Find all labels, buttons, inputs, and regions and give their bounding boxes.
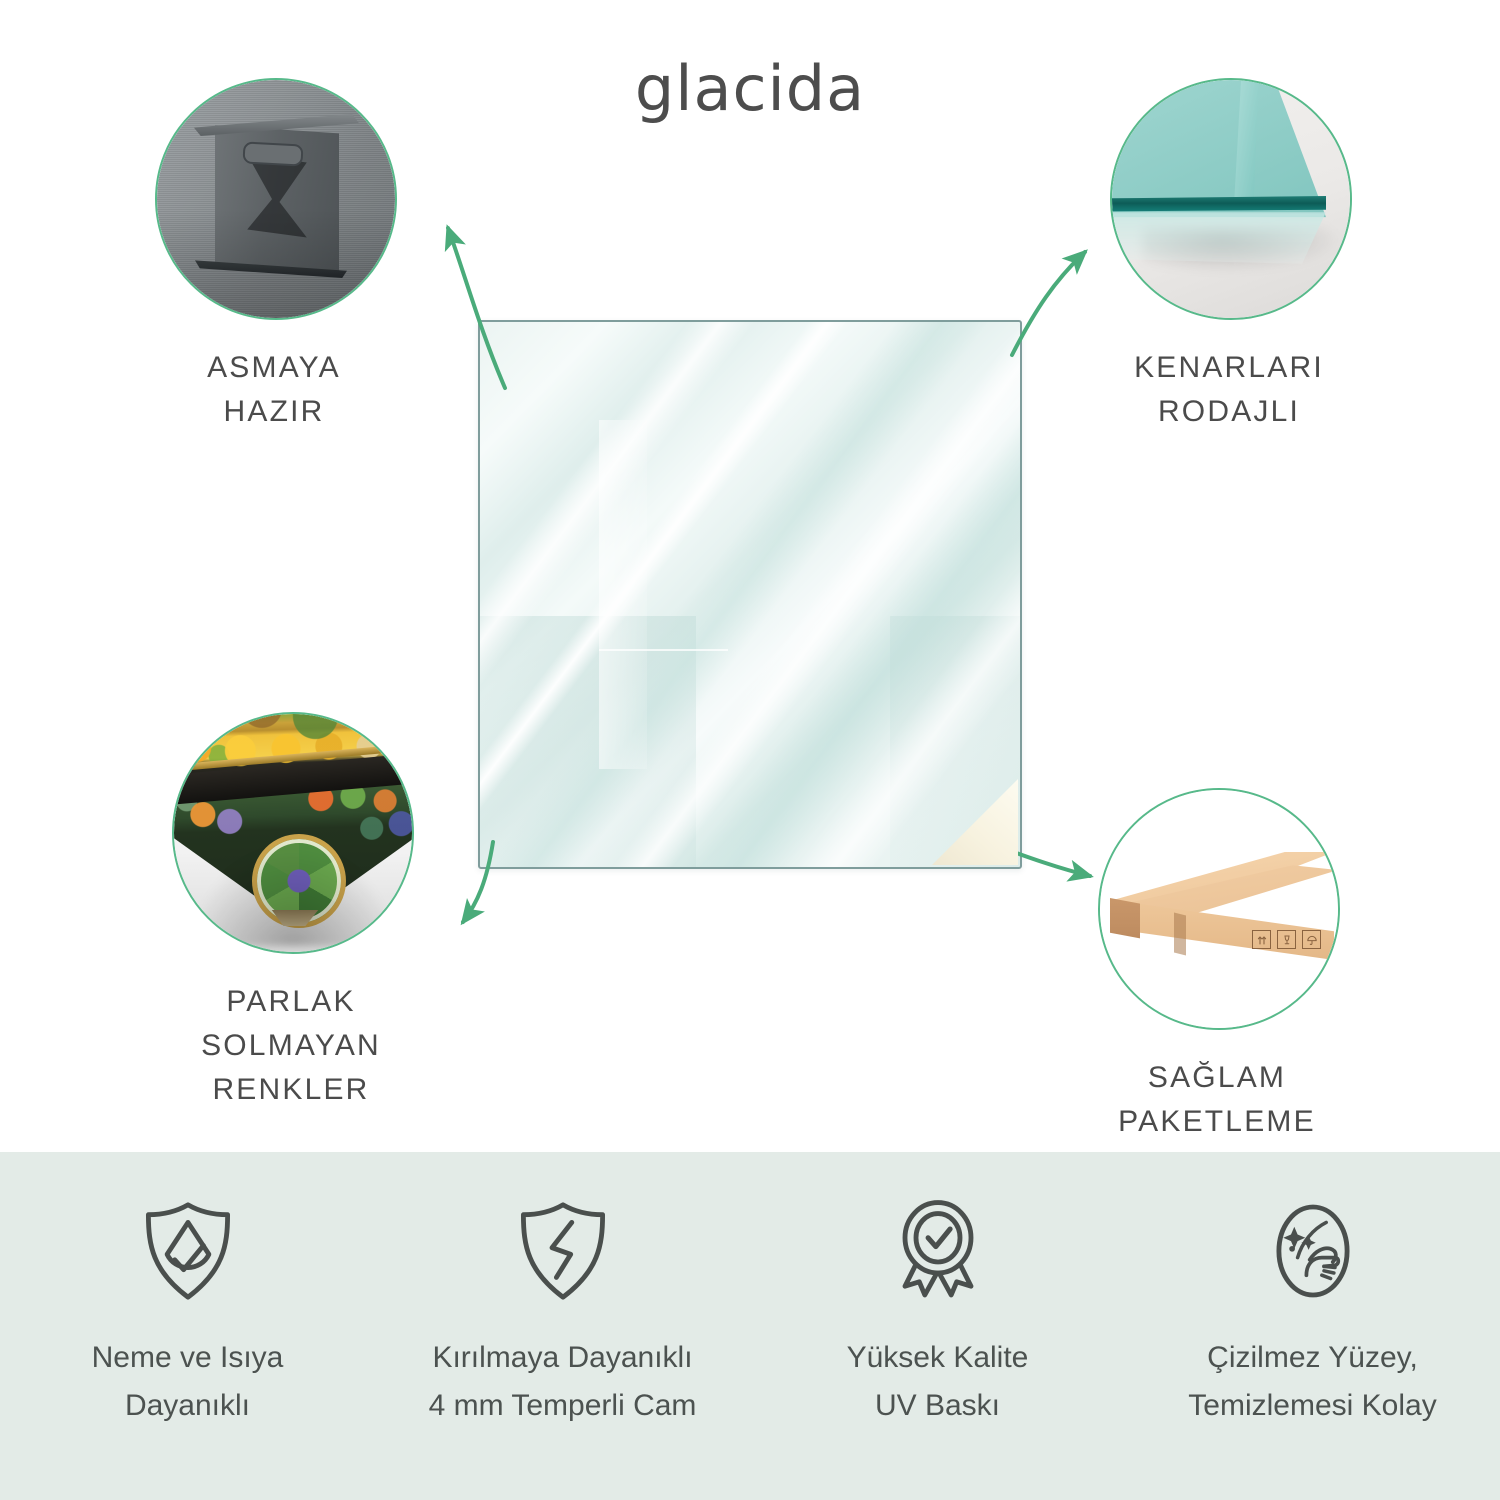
- feature-image-circle-edge: [1110, 78, 1352, 320]
- benefit-high-quality-uv: Yüksek Kalite UV Baskı: [750, 1152, 1125, 1500]
- award-ribbon-check-icon: [883, 1196, 993, 1306]
- benefit-label-scratch-free: Çizilmez Yüzey, Temizlemesi Kolay: [1188, 1334, 1436, 1430]
- feature-label-kenarlari-rodajli: KENARLARI RODAJLI: [1110, 346, 1348, 434]
- art-drop-shadow: [188, 841, 397, 946]
- benefit-label-moisture-heat: Neme ve Isıya Dayanıklı: [92, 1334, 284, 1430]
- sparkle-wipe-hand-icon: [1258, 1196, 1368, 1306]
- glass-window-reflection: [599, 420, 648, 769]
- infographic-page: glacida ASMAYA HAZIR: [0, 0, 1500, 1500]
- feature-label-parlak-solmayan-renkler: PARLAK SOLMAYAN RENKLER: [122, 980, 460, 1112]
- benefits-bar: Neme ve Isıya Dayanıklı Kırılmaya Dayanı…: [0, 1152, 1500, 1500]
- benefit-break-resistant: Kırılmaya Dayanıklı 4 mm Temperli Cam: [375, 1152, 750, 1500]
- feature-label-saglam-paketleme: SAĞLAM PAKETLEME: [1048, 1056, 1386, 1144]
- bracket-shadow: [157, 209, 395, 318]
- shield-bolt-icon: [508, 1196, 618, 1306]
- glass-window-reflection-line: [599, 649, 729, 651]
- feature-kenarlari-rodajli[interactable]: KENARLARI RODAJLI: [1110, 78, 1352, 434]
- cardboard-shipping-box-illustration: [1100, 790, 1338, 1028]
- tempered-glass-panel[interactable]: [478, 320, 1022, 869]
- feature-image-circle-art: [172, 712, 414, 954]
- feature-parlak-solmayan-renkler[interactable]: PARLAK SOLMAYAN RENKLER: [172, 712, 460, 1112]
- benefit-label-high-quality-uv: Yüksek Kalite UV Baskı: [847, 1334, 1029, 1430]
- feature-image-circle-bracket: [155, 78, 397, 320]
- keep-dry-umbrella-icon: [1302, 930, 1321, 949]
- feature-saglam-paketleme[interactable]: SAĞLAM PAKETLEME: [1098, 788, 1386, 1144]
- bracket-keyhole-slot: [242, 141, 303, 166]
- feature-image-circle-box: [1098, 788, 1340, 1030]
- this-side-up-icon: [1252, 930, 1271, 949]
- benefit-scratch-free: Çizilmez Yüzey, Temizlemesi Kolay: [1125, 1152, 1500, 1500]
- feature-asmaya-hazir[interactable]: ASMAYA HAZIR: [155, 78, 397, 434]
- benefit-label-break-resistant: Kırılmaya Dayanıklı 4 mm Temperli Cam: [429, 1334, 697, 1430]
- edge-reflection: [1112, 212, 1326, 264]
- arrow-to-top-right-icon: [1012, 252, 1085, 355]
- wall-mount-bracket-photo: [157, 80, 395, 318]
- polished-glass-edge-photo: [1112, 80, 1350, 318]
- feature-label-asmaya-hazir: ASMAYA HAZIR: [155, 346, 393, 434]
- box-shipping-symbols: [1252, 930, 1321, 949]
- polished-edge-band: [1112, 196, 1326, 212]
- stained-glass-art-print-photo: [174, 714, 412, 952]
- benefit-moisture-heat: Neme ve Isıya Dayanıklı: [0, 1152, 375, 1500]
- fragile-glass-icon: [1277, 930, 1296, 949]
- shield-droplet-check-icon: [133, 1196, 243, 1306]
- box-seam: [1174, 913, 1186, 956]
